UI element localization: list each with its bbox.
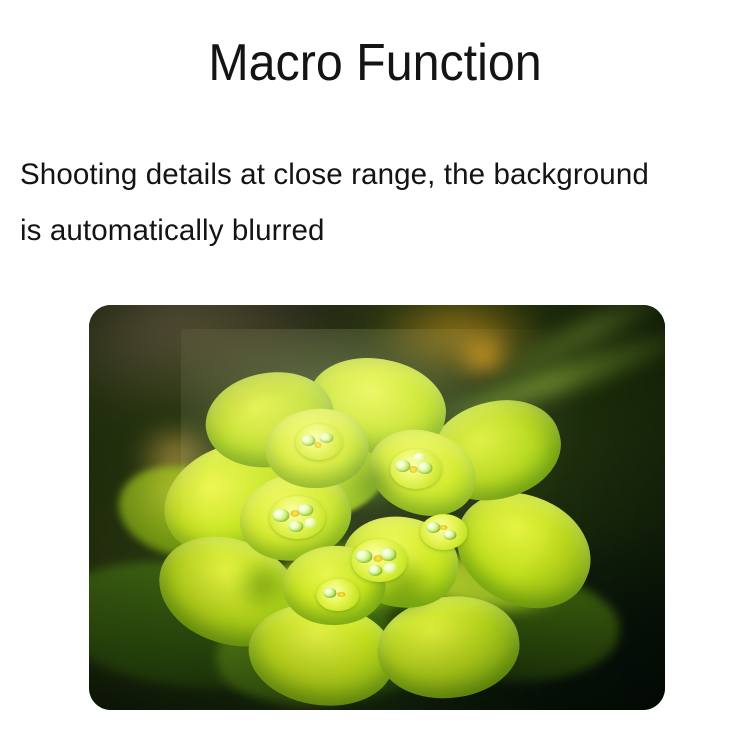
nectar-gland-icon — [273, 509, 290, 522]
page-description: Shooting details at close range, the bac… — [20, 147, 724, 259]
nectar-gland-icon — [356, 550, 373, 563]
dew-drop-icon — [304, 518, 317, 528]
nectar-gland-icon — [320, 433, 333, 443]
description-line-1: Shooting details at close range, the bac… — [20, 147, 724, 203]
nectar-gland-icon — [301, 435, 315, 446]
cyathium-4 — [295, 424, 342, 460]
product-feature-page: Macro Function Shooting details at close… — [0, 0, 750, 750]
photo-canvas — [89, 305, 665, 710]
stamen-icon — [291, 510, 300, 517]
nectar-gland-icon — [288, 521, 303, 532]
nectar-gland-icon — [380, 548, 396, 560]
nectar-gland-icon — [418, 462, 432, 473]
nectar-gland-icon — [444, 530, 457, 540]
dew-drop-icon — [384, 563, 399, 574]
dew-drop-icon — [414, 453, 426, 463]
stamen-icon — [374, 555, 383, 562]
page-title: Macro Function — [26, 33, 724, 93]
nectar-gland-icon — [297, 504, 313, 516]
stamen-icon — [409, 466, 417, 472]
stamen-icon — [440, 525, 447, 530]
nectar-gland-icon — [368, 565, 383, 576]
stamen-icon — [314, 442, 322, 448]
cyathium-2 — [351, 539, 407, 582]
nectar-gland-icon — [427, 522, 441, 533]
flower-rosette — [153, 352, 583, 710]
nectar-gland-icon — [324, 588, 337, 598]
stamen-icon — [337, 592, 345, 598]
nectar-gland-icon — [395, 460, 410, 472]
macro-photo — [89, 305, 665, 710]
cyathium-3 — [390, 449, 442, 489]
cyathium-5 — [420, 514, 467, 550]
cyathium-1 — [269, 496, 325, 539]
description-line-2: is automatically blurred — [20, 203, 724, 259]
